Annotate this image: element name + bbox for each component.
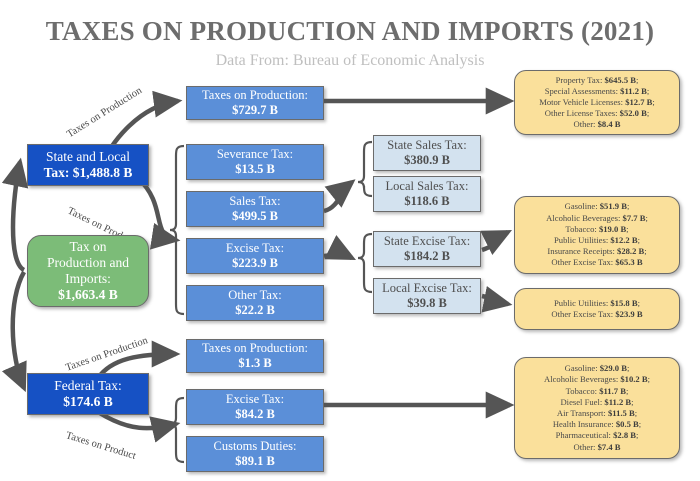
brace-federal-product — [170, 398, 184, 462]
node-line-2: $184.2 B — [404, 249, 450, 264]
node-line-1: Other Tax: — [228, 288, 281, 303]
node-sl-taxes-on-production[interactable]: Taxes on Production: $729.7 B — [186, 86, 324, 120]
node-line-2: $22.2 B — [235, 303, 275, 318]
node-line-2: $39.8 B — [407, 296, 447, 311]
node-line-1: Federal Tax: — [54, 378, 121, 394]
detail-line: Alcoholic Beverages: $10.2 B; — [544, 374, 650, 385]
node-local-excise-tax[interactable]: Local Excise Tax: $39.8 B — [373, 278, 481, 314]
node-line-2: Production and — [47, 255, 129, 271]
node-line-3: Imports: — [65, 271, 111, 287]
edge-sl-product — [138, 178, 176, 240]
detail-line: Other: $8.4 B — [573, 119, 620, 130]
detail-line: Other Excise Tax: $23.9 B — [551, 309, 642, 320]
detail-line: Special Assessments: $11.2 B; — [545, 86, 650, 97]
node-line-2: $380.9 B — [404, 153, 450, 168]
edge-root-to-statelocal — [13, 162, 24, 270]
node-severance-tax[interactable]: Severance Tax: $13.5 B — [186, 144, 324, 180]
node-line-1: Customs Duties: — [214, 439, 297, 454]
node-line-1: Excise Tax: — [226, 392, 284, 407]
detail-line: Property Tax: $645.5 B; — [556, 75, 639, 86]
node-state-and-local-tax[interactable]: State and Local Tax: $1,488.8 B — [27, 144, 149, 186]
detail-line: Gasoline: $29.0 B; — [565, 363, 630, 374]
detail-line: Other Excise Tax: $65.3 B — [551, 257, 642, 268]
edge-label-sl-production: Taxes on Production — [65, 85, 144, 140]
node-line-2: $118.6 B — [404, 194, 449, 209]
edge-state-excise-detail — [482, 232, 508, 250]
node-line-1: Excise Tax: — [226, 241, 284, 256]
detail-line: Pharmaceutical: $2.8 B; — [556, 430, 639, 441]
node-line-1: State and Local — [46, 149, 130, 165]
node-line-2: $729.7 B — [232, 103, 278, 118]
node-customs-duties[interactable]: Customs Duties: $89.1 B — [186, 436, 324, 472]
node-line-1: Sales Tax: — [229, 194, 280, 209]
node-state-sales-tax[interactable]: State Sales Tax: $380.9 B — [373, 135, 481, 171]
detail-line: Tobacco: $11.7 B; — [566, 386, 629, 397]
node-line-1: Tax on — [70, 239, 107, 255]
detail-line: Tobacco: $19.0 B; — [565, 224, 628, 235]
node-line-1: State Sales Tax: — [387, 138, 466, 153]
node-line-4: $1,663.4 B — [58, 287, 118, 303]
node-line-2: $174.6 B — [63, 394, 113, 410]
detail-line: Air Transport: $11.5 B; — [557, 408, 637, 419]
brace-excise-group — [358, 234, 372, 292]
node-line-1: Taxes on Production: — [202, 341, 308, 356]
page-title: TAXES ON PRODUCTION AND IMPORTS (2021) — [0, 16, 700, 47]
detail-line: Other License Taxes: $52.0 B; — [545, 108, 650, 119]
detail-line: Public Utilities: $15.8 B; — [554, 298, 640, 309]
detail-line: Gasoline: $51.9 B; — [565, 201, 630, 212]
detail-line: Alcoholic Beverages: $7.7 B; — [546, 213, 648, 224]
node-line-1: Severance Tax: — [217, 147, 293, 162]
diagram-canvas: TAXES ON PRODUCTION AND IMPORTS (2021) D… — [0, 0, 700, 481]
detail-line: Health Insurance: $0.5 B; — [553, 419, 641, 430]
detail-box-local-excise[interactable]: Public Utilities: $15.8 B;Other Excise T… — [514, 288, 680, 330]
detail-line: Other: $7.4 B — [573, 442, 620, 453]
detail-line: Diesel Fuel: $11.2 B; — [560, 397, 633, 408]
node-tax-on-production-and-imports[interactable]: Tax on Production and Imports: $1,663.4 … — [27, 235, 149, 307]
brace-sales-group — [358, 142, 372, 196]
node-line-2: $499.5 B — [232, 209, 278, 224]
edge-root-to-federal — [13, 272, 24, 388]
edge-excise-split — [324, 255, 352, 258]
node-other-tax[interactable]: Other Tax: $22.2 B — [186, 285, 324, 321]
brace-state-local-product — [170, 146, 184, 314]
edge-label-fed-product: Taxes on Product — [64, 430, 137, 462]
node-line-1: State Excise Tax: — [384, 234, 470, 249]
detail-box-state-excise[interactable]: Gasoline: $51.9 B;Alcoholic Beverages: $… — [514, 196, 680, 274]
node-line-2: $1.3 B — [238, 356, 271, 371]
node-excise-tax[interactable]: Excise Tax: $223.9 B — [186, 238, 324, 274]
edge-local-excise-detail — [482, 296, 508, 304]
page-subtitle: Data From: Bureau of Economic Analysis — [0, 52, 700, 70]
node-line-1: Local Sales Tax: — [386, 179, 469, 194]
node-local-sales-tax[interactable]: Local Sales Tax: $118.6 B — [373, 176, 481, 212]
node-line-2: $84.2 B — [235, 407, 275, 422]
detail-box-production[interactable]: Property Tax: $645.5 B;Special Assessmen… — [514, 70, 680, 135]
node-sales-tax[interactable]: Sales Tax: $499.5 B — [186, 191, 324, 227]
node-federal-tax[interactable]: Federal Tax: $174.6 B — [27, 373, 149, 415]
node-line-2: $89.1 B — [235, 454, 275, 469]
node-fed-excise-tax[interactable]: Excise Tax: $84.2 B — [186, 389, 324, 425]
node-fed-taxes-on-production[interactable]: Taxes on Production: $1.3 B — [186, 339, 324, 373]
node-line-2: $13.5 B — [235, 162, 275, 177]
node-line-2: Tax: $1,488.8 B — [44, 165, 133, 181]
detail-line: Public Utilities: $12.2 B; — [554, 235, 640, 246]
node-line-1: Local Excise Tax: — [382, 281, 472, 296]
node-state-excise-tax[interactable]: State Excise Tax: $184.2 B — [373, 231, 481, 267]
edge-sales-split — [324, 182, 352, 211]
node-line-1: Taxes on Production: — [202, 88, 308, 103]
detail-line: Motor Vehicle Licenses: $12.7 B; — [539, 97, 655, 108]
edge-label-fed-production: Taxes on Production — [64, 335, 149, 373]
detail-line: Insurance Receipts: $28.2 B; — [547, 246, 646, 257]
detail-box-federal-excise[interactable]: Gasoline: $29.0 B;Alcoholic Beverages: $… — [514, 357, 680, 459]
node-line-2: $223.9 B — [232, 256, 278, 271]
